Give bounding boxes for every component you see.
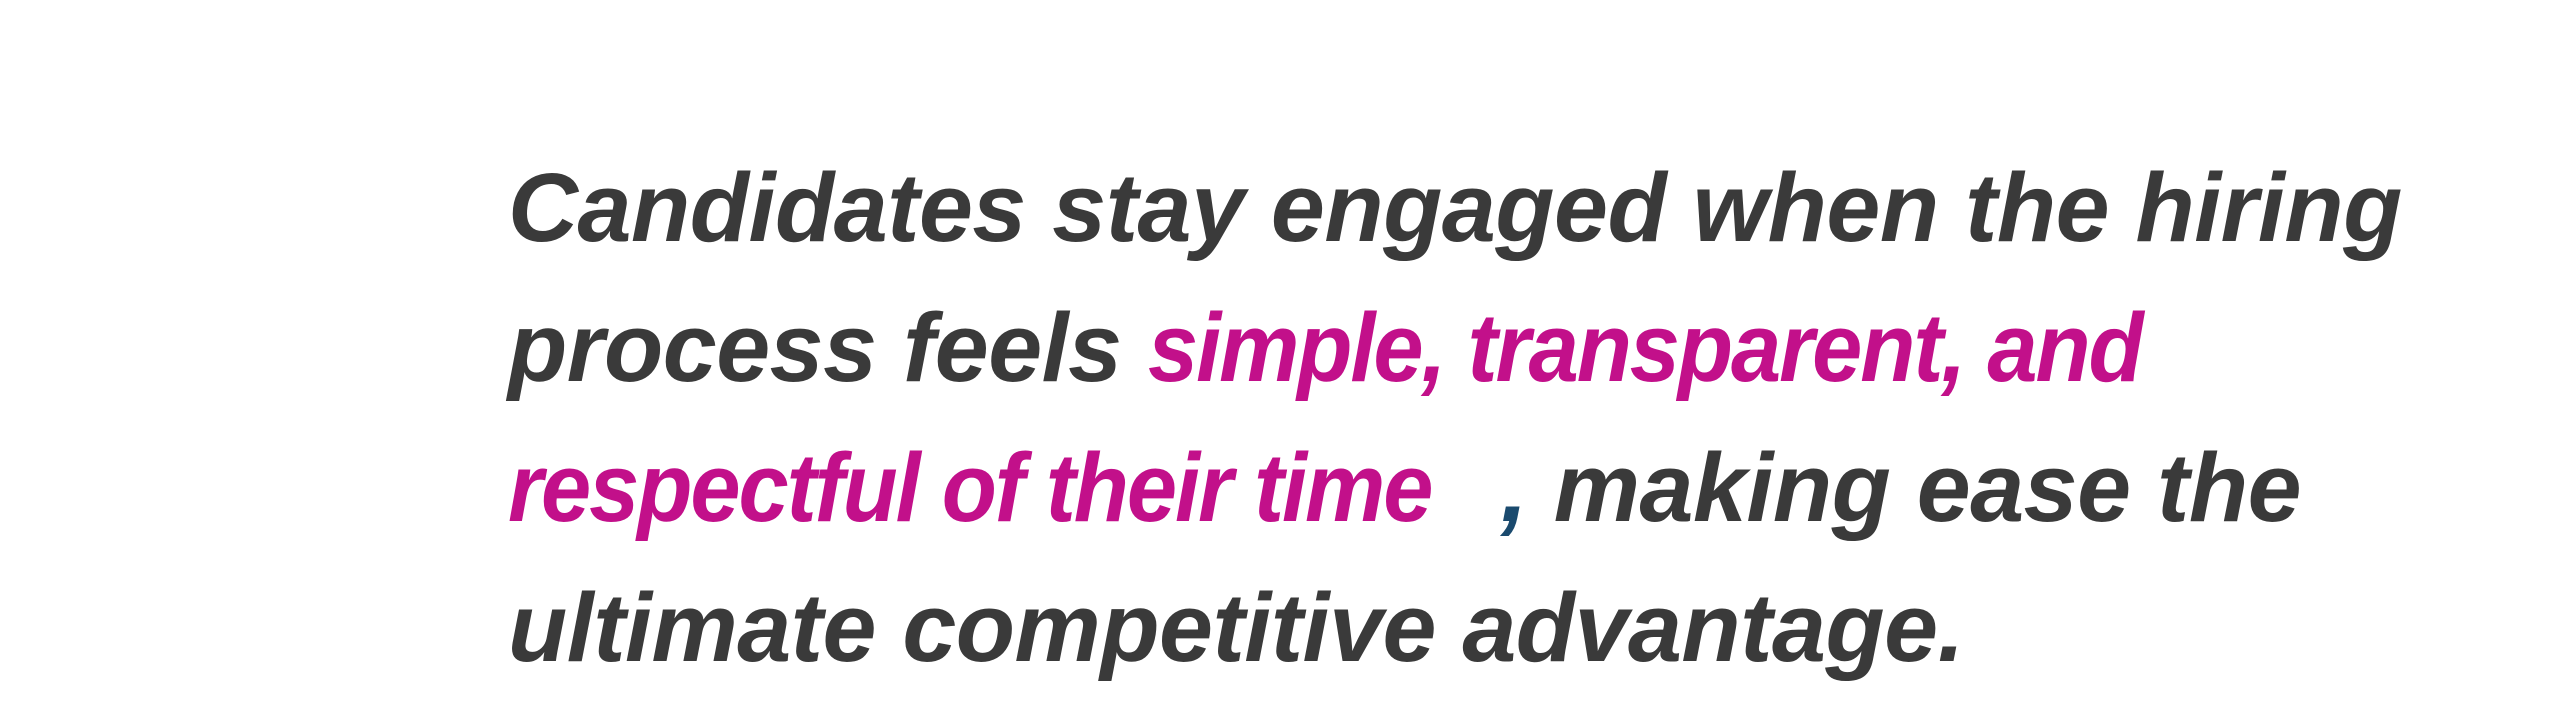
quote-line-1: Candidates stay engaged when the hiring: [508, 138, 2148, 278]
quote-line-2: process feels simple, transparent, and: [508, 278, 2148, 418]
quote-canvas: Candidates stay engaged when the hiring …: [0, 0, 2560, 720]
quote-text-plain: Candidates stay engaged when the hiring: [508, 153, 2402, 262]
quote-text-plain: ultimate competitive advantage.: [508, 573, 1964, 682]
quote-line-4: ultimate competitive advantage.: [508, 558, 2148, 698]
pull-quote: Candidates stay engaged when the hiring …: [508, 138, 2148, 698]
quote-text-highlight: simple, transparent, and: [1148, 278, 2142, 418]
quote-accent-comma: ,: [1501, 433, 1527, 542]
quote-line-3: respectful of their time, making ease th…: [508, 418, 2148, 558]
quote-text-highlight: respectful of their time: [508, 418, 1431, 558]
quote-text-plain: process feels: [508, 293, 1148, 402]
quote-text-plain: making ease the: [1527, 433, 2301, 542]
